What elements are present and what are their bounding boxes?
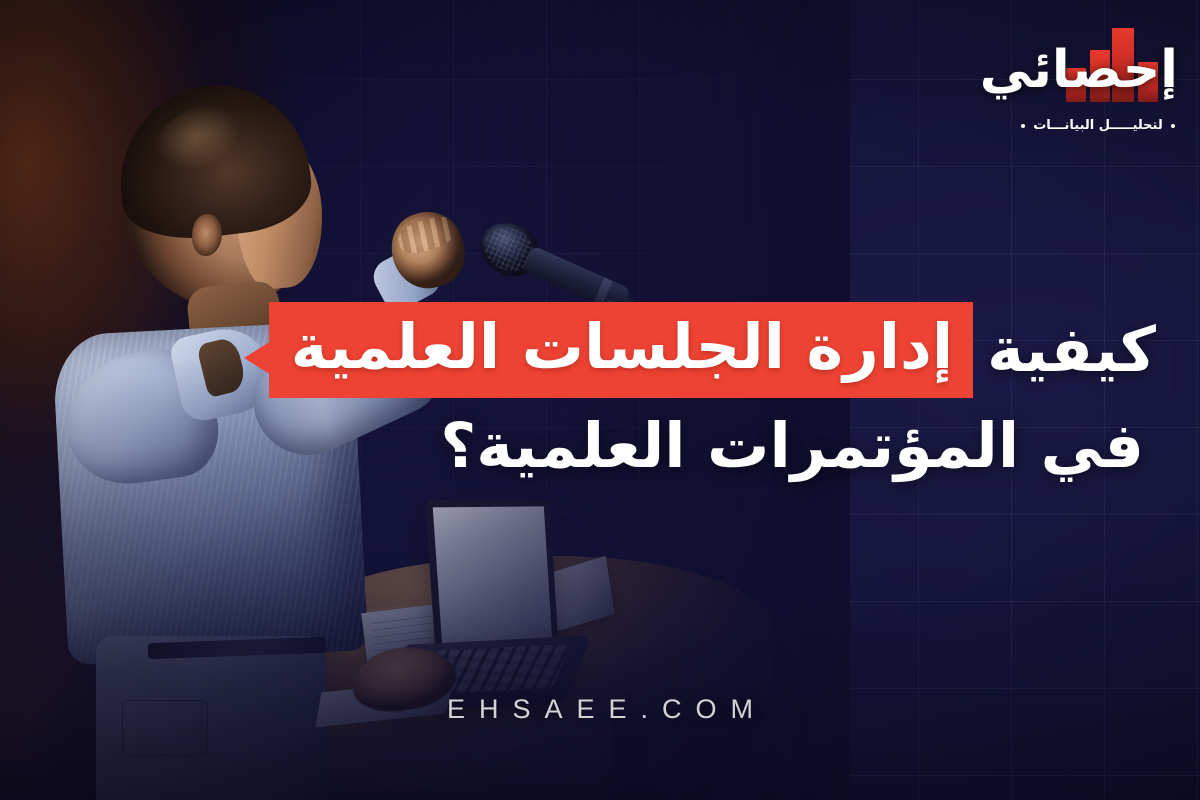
headline-highlight-band: إدارة الجلسات العلمية [269,302,973,398]
tagline-dot-icon [1021,124,1025,128]
triangle-marker-icon [244,328,292,388]
brand-logo[interactable]: إحصائي لتحليـــــل البيانـــات [1012,22,1182,152]
logo-tagline: لتحليـــــل البيانـــات [1022,118,1174,133]
headline-line-2: في المؤتمرات العلمية؟ [316,410,1156,481]
headline-line-1: كيفية إدارة الجلسات العلمية [316,300,1156,400]
logo-wordmark: إحصائي [1018,44,1178,96]
social-card: إحصائي لتحليـــــل البيانـــات كيفية إدا… [0,0,1200,800]
headline-block: كيفية إدارة الجلسات العلمية في المؤتمرات… [316,300,1156,481]
tagline-dot-icon [1171,124,1175,128]
headline-plain-text: كيفية [987,319,1156,381]
site-watermark: EHSAEE.COM [0,694,1200,725]
logo-tagline-text: لتحليـــــل البيانـــات [1033,118,1163,133]
